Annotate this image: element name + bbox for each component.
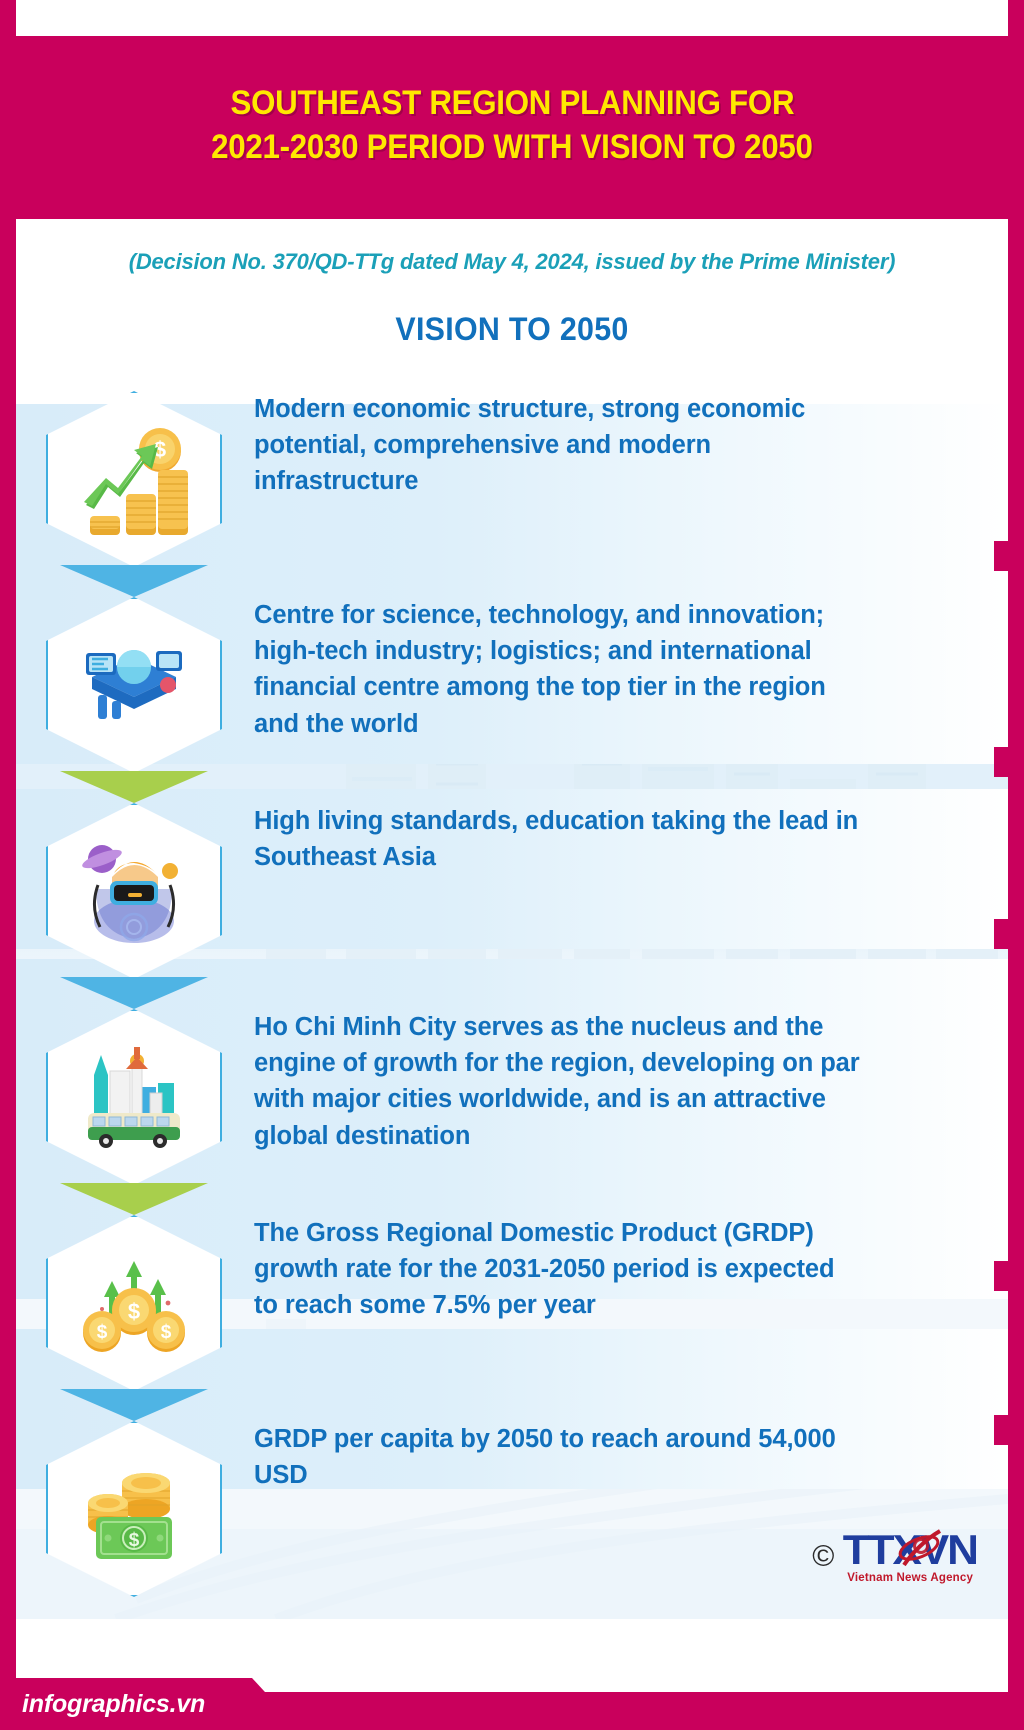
- list-item-text: Centre for science, technology, and inno…: [222, 597, 882, 742]
- growth-coins-icon: $: [72, 417, 196, 541]
- technology-innovation-icon: [72, 623, 196, 747]
- ttxvn-logo: © TTXVN Vietnam News Agency: [812, 1529, 974, 1584]
- list-item-text: High living standards, education taking …: [222, 803, 882, 875]
- page-title-line2: 2021-2030 PERIOD WITH VISION TO 2050: [211, 126, 812, 170]
- infographics-site-label: infographics.vn: [0, 1690, 205, 1719]
- footer-band: infographics.vn: [0, 1662, 1024, 1730]
- ttxvn-wordmark: TTXVN: [843, 1529, 977, 1571]
- hex-connector-2: [46, 767, 222, 807]
- svg-text:$: $: [128, 1299, 140, 1324]
- header-band: SOUTHEAST REGION PLANNING FOR 2021-2030 …: [0, 36, 1024, 216]
- list-item: $: [16, 391, 1008, 567]
- list-item: Centre for science, technology, and inno…: [16, 597, 1008, 773]
- hex-connector-1: [46, 561, 222, 601]
- hex-frame-2: [46, 597, 222, 773]
- hex-frame-6: $: [46, 1421, 222, 1597]
- hex-frame-3: [46, 803, 222, 979]
- ttxvn-tagline: Vietnam News Agency: [846, 1572, 974, 1584]
- coins-arrows-icon: $ $ $: [72, 1241, 196, 1365]
- hex-frame-1: $: [46, 391, 222, 567]
- hex-connector-5: [46, 1385, 222, 1425]
- hex-connector-4: [46, 1179, 222, 1219]
- vr-education-icon: [72, 829, 196, 953]
- list-item-text: GRDP per capita by 2050 to reach around …: [222, 1421, 882, 1493]
- infographics-banner: infographics.vn: [0, 1678, 300, 1730]
- list-item: Ho Chi Minh City serves as the nucleus a…: [16, 1009, 1008, 1185]
- list-item: $ $ $ The Gross Regional Domestic Produc…: [16, 1215, 1008, 1391]
- list-item-text: The Gross Regional Domestic Product (GRD…: [222, 1215, 882, 1324]
- page-background: SOUTHEAST REGION PLANNING FOR 2021-2030 …: [0, 0, 1024, 1730]
- city-bus-icon: [72, 1035, 196, 1159]
- list-item-text: Modern economic structure, strong econom…: [222, 391, 882, 500]
- vision-items-list: $: [16, 219, 1008, 1662]
- top-white-strip: [16, 0, 1008, 36]
- hex-frame-5: $ $ $: [46, 1215, 222, 1391]
- copyright-icon: ©: [812, 1542, 834, 1572]
- main-content-card: (Decision No. 370/QD-TTg dated May 4, 20…: [16, 219, 1008, 1662]
- money-banknote-icon: $: [72, 1447, 196, 1571]
- list-item: High living standards, education taking …: [16, 803, 1008, 979]
- hex-frame-4: [46, 1009, 222, 1185]
- hex-connector-3: [46, 973, 222, 1013]
- page-title-line1: SOUTHEAST REGION PLANNING FOR: [230, 82, 794, 126]
- list-item-text: Ho Chi Minh City serves as the nucleus a…: [222, 1009, 882, 1154]
- svg-text:$: $: [161, 1322, 172, 1343]
- svg-text:$: $: [97, 1322, 108, 1343]
- svg-text:$: $: [129, 1530, 140, 1551]
